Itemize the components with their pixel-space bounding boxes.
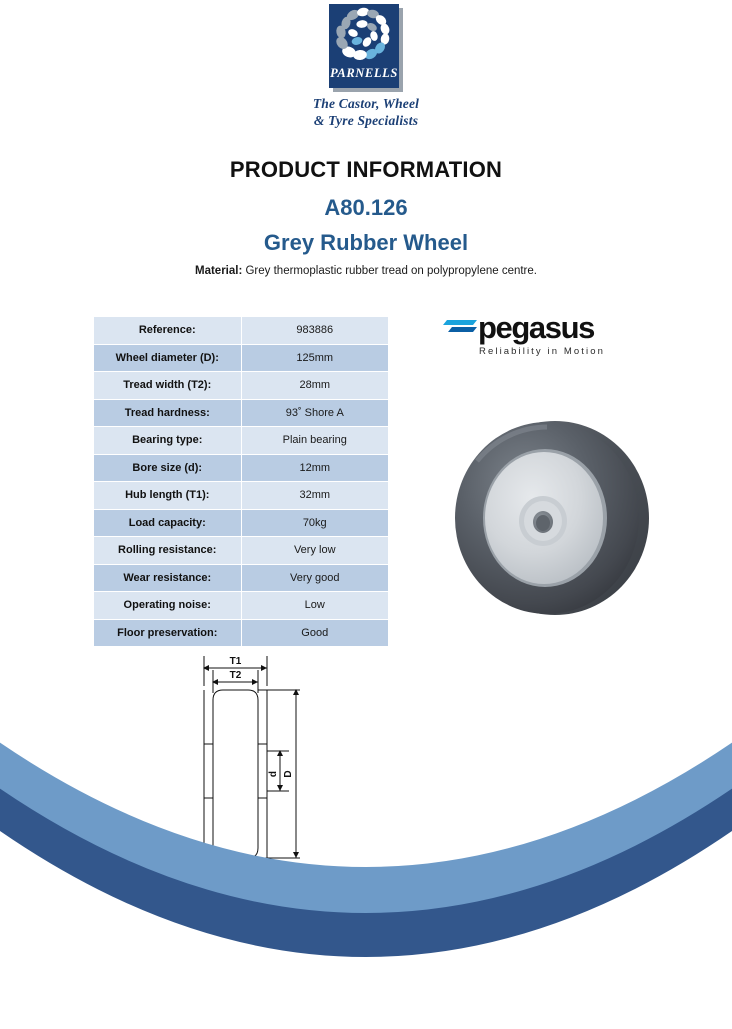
spec-label: Load capacity:: [94, 509, 242, 537]
table-row: Rolling resistance:Very low: [94, 537, 389, 565]
dimension-label-diameter: D: [283, 770, 294, 777]
dimension-label-t2: T2: [230, 670, 242, 681]
table-row: Load capacity:70kg: [94, 509, 389, 537]
product-name: Grey Rubber Wheel: [0, 230, 732, 256]
spec-value: 125mm: [241, 344, 389, 372]
dimension-label-t1: T1: [230, 656, 242, 667]
spec-label: Wear resistance:: [94, 564, 242, 592]
spec-value: Very good: [241, 564, 389, 592]
pegasus-logo: pegasus Reliability in Motion: [443, 313, 633, 357]
table-row: Tread width (T2):28mm: [94, 372, 389, 400]
material-text: Grey thermoplastic rubber tread on polyp…: [242, 265, 537, 277]
dimension-label-bore: d: [268, 771, 279, 777]
spec-label: Bore size (d):: [94, 454, 242, 482]
spec-label: Floor preservation:: [94, 619, 242, 647]
table-row: Bore size (d):12mm: [94, 454, 389, 482]
decorative-swoosh: [0, 724, 732, 1024]
parnells-tagline-line1: The Castor, Wheel: [0, 96, 732, 113]
spec-value: Plain bearing: [241, 427, 389, 455]
spec-value: Very low: [241, 537, 389, 565]
specification-table-body: Reference:983886Wheel diameter (D):125mm…: [94, 317, 389, 647]
table-row: Tread hardness:93˚ Shore A: [94, 399, 389, 427]
pegasus-wordmark: pegasus: [478, 313, 594, 343]
page-title: PRODUCT INFORMATION: [0, 157, 732, 183]
spec-value: 70kg: [241, 509, 389, 537]
logo-box: PARNELLS: [329, 4, 399, 88]
spec-label: Reference:: [94, 317, 242, 345]
spec-value: Low: [241, 592, 389, 620]
spec-value: Good: [241, 619, 389, 647]
spec-label: Tread hardness:: [94, 399, 242, 427]
spec-value: 28mm: [241, 372, 389, 400]
spec-label: Wheel diameter (D):: [94, 344, 242, 372]
material-label: Material:: [195, 265, 242, 277]
spec-value: 983886: [241, 317, 389, 345]
parnells-tagline: The Castor, Wheel & Tyre Specialists: [0, 96, 732, 129]
spec-label: Tread width (T2):: [94, 372, 242, 400]
specification-table: Reference:983886Wheel diameter (D):125mm…: [93, 316, 389, 647]
spec-label: Rolling resistance:: [94, 537, 242, 565]
pegasus-wordmark-row: pegasus: [443, 313, 633, 343]
spec-value: 93˚ Shore A: [241, 399, 389, 427]
technical-drawing: T1 T2 d D: [192, 648, 320, 873]
spec-value: 12mm: [241, 454, 389, 482]
pegasus-tagline: Reliability in Motion: [443, 346, 633, 357]
table-row: Bearing type:Plain bearing: [94, 427, 389, 455]
pegasus-speed-lines-icon: [443, 313, 477, 343]
parnells-tagline-line2: & Tyre Specialists: [0, 113, 732, 130]
parnells-logo-mark: PARNELLS: [329, 4, 403, 92]
spec-label: Bearing type:: [94, 427, 242, 455]
spec-label: Operating noise:: [94, 592, 242, 620]
wheel-product-photo: [451, 417, 651, 620]
material-description: Material: Grey thermoplastic rubber trea…: [0, 265, 732, 277]
table-row: Reference:983886: [94, 317, 389, 345]
product-code: A80.126: [0, 195, 732, 221]
table-row: Operating noise:Low: [94, 592, 389, 620]
table-row: Hub length (T1):32mm: [94, 482, 389, 510]
parnells-logo-name: PARNELLS: [329, 66, 399, 81]
table-row: Wear resistance:Very good: [94, 564, 389, 592]
spec-value: 32mm: [241, 482, 389, 510]
spec-label: Hub length (T1):: [94, 482, 242, 510]
table-row: Floor preservation:Good: [94, 619, 389, 647]
table-row: Wheel diameter (D):125mm: [94, 344, 389, 372]
parnells-logo: PARNELLS The Castor, Wheel & Tyre Specia…: [0, 4, 732, 129]
